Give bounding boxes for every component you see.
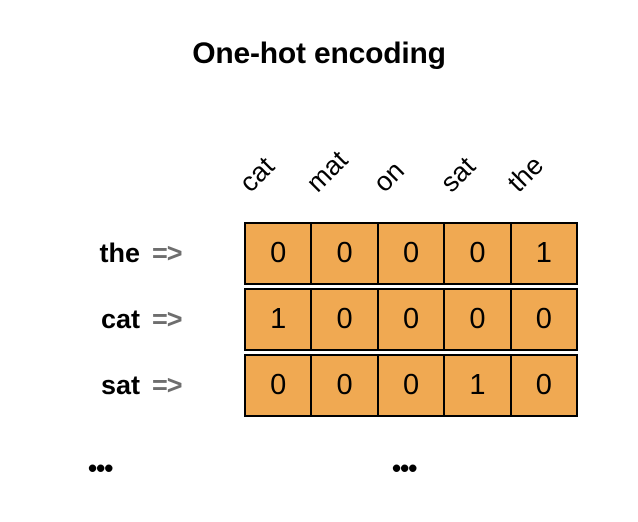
column-header-on: on [378, 120, 445, 200]
column-header-the: the [512, 120, 579, 200]
matrix-cell: 1 [512, 224, 576, 283]
matrix-cell: 0 [379, 290, 445, 349]
matrix-cell: 0 [379, 356, 445, 415]
matrix-cell: 0 [312, 356, 378, 415]
column-header-sat: sat [445, 120, 512, 200]
table-row: the => 0 0 0 0 1 [0, 222, 638, 285]
matrix-cell: 0 [445, 224, 511, 283]
row-vector-the: 0 0 0 0 1 [244, 222, 578, 285]
matrix-cell: 0 [512, 290, 576, 349]
ellipsis-icon-rows: ••• [88, 455, 112, 481]
maps-to-arrow-icon: => [152, 222, 216, 285]
matrix-cell: 0 [246, 356, 312, 415]
column-header-row: cat mat on sat the [244, 120, 578, 200]
row-vector-cat: 1 0 0 0 0 [244, 288, 578, 351]
maps-to-arrow-icon: => [152, 288, 216, 351]
table-row: sat => 0 0 0 1 0 [0, 354, 638, 417]
one-hot-encoding-figure: One-hot encoding cat mat on sat the the … [0, 0, 638, 522]
row-label-the: the [20, 222, 140, 285]
page-title: One-hot encoding [0, 36, 638, 72]
matrix-cell: 0 [445, 290, 511, 349]
row-vector-sat: 0 0 0 1 0 [244, 354, 578, 417]
column-header-label: cat [235, 152, 280, 197]
column-header-mat: mat [311, 120, 378, 200]
matrix-cell: 1 [246, 290, 312, 349]
matrix-cell: 0 [246, 224, 312, 283]
encoding-matrix: the => 0 0 0 0 1 cat => 1 0 0 0 0 sat => [0, 222, 638, 420]
matrix-cell: 0 [512, 356, 576, 415]
matrix-cell: 0 [312, 224, 378, 283]
matrix-cell: 0 [379, 224, 445, 283]
column-header-cat: cat [244, 120, 311, 200]
maps-to-arrow-icon: => [152, 354, 216, 417]
matrix-cell: 1 [445, 356, 511, 415]
ellipsis-icon-matrix: ••• [392, 455, 416, 481]
row-label-sat: sat [20, 354, 140, 417]
table-row: cat => 1 0 0 0 0 [0, 288, 638, 351]
matrix-cell: 0 [312, 290, 378, 349]
row-label-cat: cat [20, 288, 140, 351]
